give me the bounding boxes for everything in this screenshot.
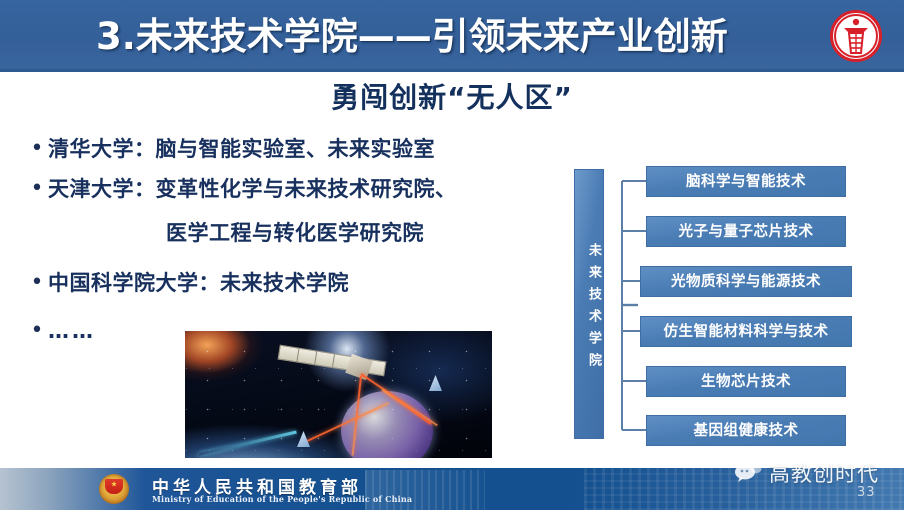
- ministry-building-photo-secondary: [365, 470, 485, 510]
- list-item: • 清华大学：脑与智能实验室、未来实验室: [26, 132, 566, 166]
- diagram-connectors: [604, 155, 646, 455]
- header-band: 3.未来技术学院——引领未来产业创新: [0, 0, 904, 72]
- quantum-satellite-space-photo: [185, 331, 492, 458]
- bullet-marker-icon: •: [26, 266, 48, 300]
- china-national-emblem-icon: [99, 474, 129, 504]
- list-item-label: ……: [48, 314, 96, 348]
- bullet-marker-icon: •: [26, 172, 48, 206]
- bullet-list: • 清华大学：脑与智能实验室、未来实验室 • 天津大学：变革性化学与未来技术研究…: [26, 132, 566, 358]
- list-item: • 中国科学院大学：未来技术学院: [26, 266, 566, 300]
- page-number: 33: [857, 485, 876, 500]
- diagram-box-genome-health[interactable]: 基因组健康技术: [646, 415, 846, 446]
- page-title: 3.未来技术学院——引领未来产业创新: [96, 8, 796, 66]
- tianjin-university-seal-icon: [830, 10, 882, 62]
- list-item-label: 中国科学院大学：未来技术学院: [48, 266, 566, 300]
- watermark: 高教创时代: [733, 458, 879, 488]
- list-item-label: 天津大学：变革性化学与未来技术研究院、: [48, 172, 566, 206]
- ministry-name-en: Ministry of Education of the People's Re…: [152, 494, 412, 504]
- diagram-trunk-label: 未来技术学院: [574, 169, 604, 439]
- diagram-box-biochip[interactable]: 生物芯片技术: [646, 366, 846, 397]
- diagram-box-brain-science[interactable]: 脑科学与智能技术: [646, 166, 846, 197]
- list-item-label: 医学工程与转化医学研究院: [48, 216, 566, 250]
- list-item-continuation: 医学工程与转化医学研究院: [26, 216, 566, 250]
- slide-canvas: 3.未来技术学院——引领未来产业创新 勇闯创新“无人区” • 清华大学：脑与智能…: [0, 0, 904, 510]
- starfield: [185, 331, 492, 458]
- bullet-marker-icon: •: [26, 132, 48, 166]
- list-item-label: 清华大学：脑与智能实验室、未来实验室: [48, 132, 566, 166]
- diagram-box-photonics-quantum-chip[interactable]: 光子与量子芯片技术: [646, 216, 846, 247]
- watermark-label: 高教创时代: [769, 458, 879, 488]
- diagram-box-photo-matter-energy[interactable]: 光物质科学与能源技术: [640, 266, 852, 297]
- list-item: • 天津大学：变革性化学与未来技术研究院、: [26, 172, 566, 206]
- bullet-marker-icon: •: [26, 314, 48, 348]
- future-technology-college-diagram: 未来技术学院 脑科学与智能技术 光子与量子芯片技术 光物质科学与能源技术 仿生智…: [572, 155, 892, 455]
- diagram-box-bionic-materials[interactable]: 仿生智能材料科学与技术: [640, 316, 852, 347]
- subtitle: 勇闯创新“无人区”: [0, 76, 904, 116]
- chat-bubble-icon: [733, 461, 763, 485]
